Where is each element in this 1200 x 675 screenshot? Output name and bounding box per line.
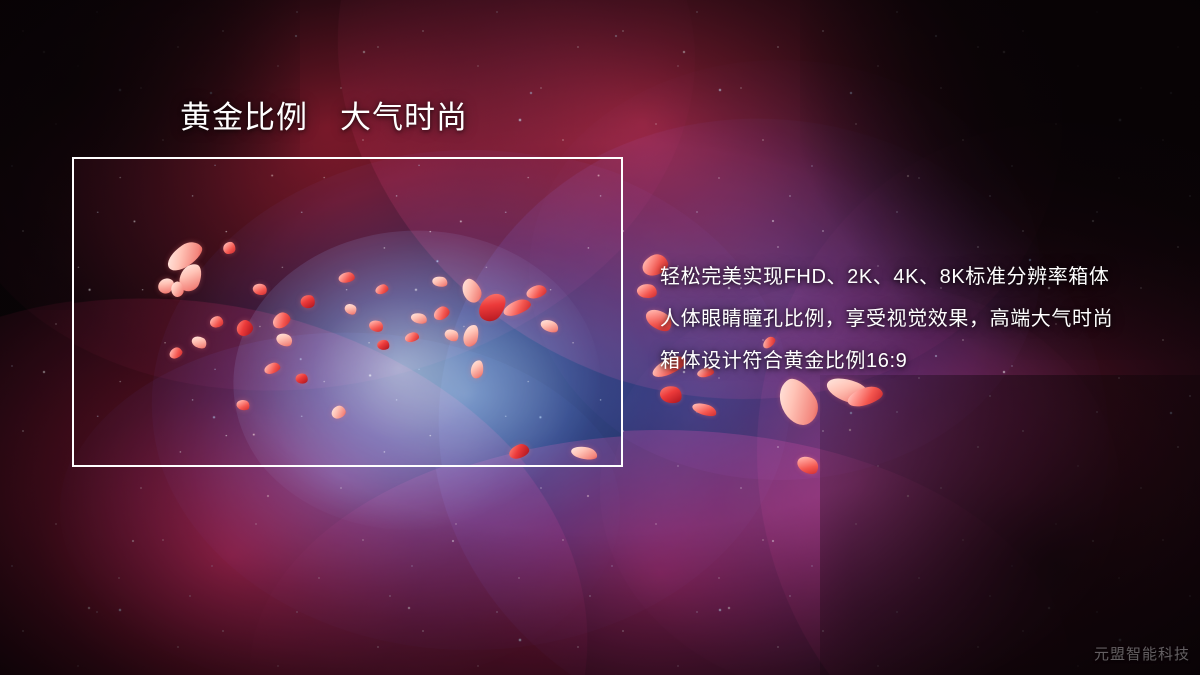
description-line-2: 人体眼睛瞳孔比例，享受视觉效果，高端大气时尚 (660, 298, 1160, 340)
description-line-1: 轻松完美实现FHD、2K、4K、8K标准分辨率箱体 (660, 256, 1160, 298)
slide-canvas: 黄金比例 大气时尚 轻松完美实现FHD、2K、4K、8K标准分辨率箱体 人体眼睛… (0, 0, 1200, 675)
watermark: 元盟智能科技 (1094, 643, 1190, 664)
framed-photo-content (74, 159, 621, 465)
framed-space-background (74, 159, 621, 465)
framed-photo (72, 157, 623, 467)
framed-photo-scene (74, 159, 621, 465)
description-block: 轻松完美实现FHD、2K、4K、8K标准分辨率箱体 人体眼睛瞳孔比例，享受视觉效… (660, 256, 1160, 382)
description-line-3: 箱体设计符合黄金比例16:9 (660, 340, 1160, 382)
page-title: 黄金比例 大气时尚 (180, 99, 468, 136)
